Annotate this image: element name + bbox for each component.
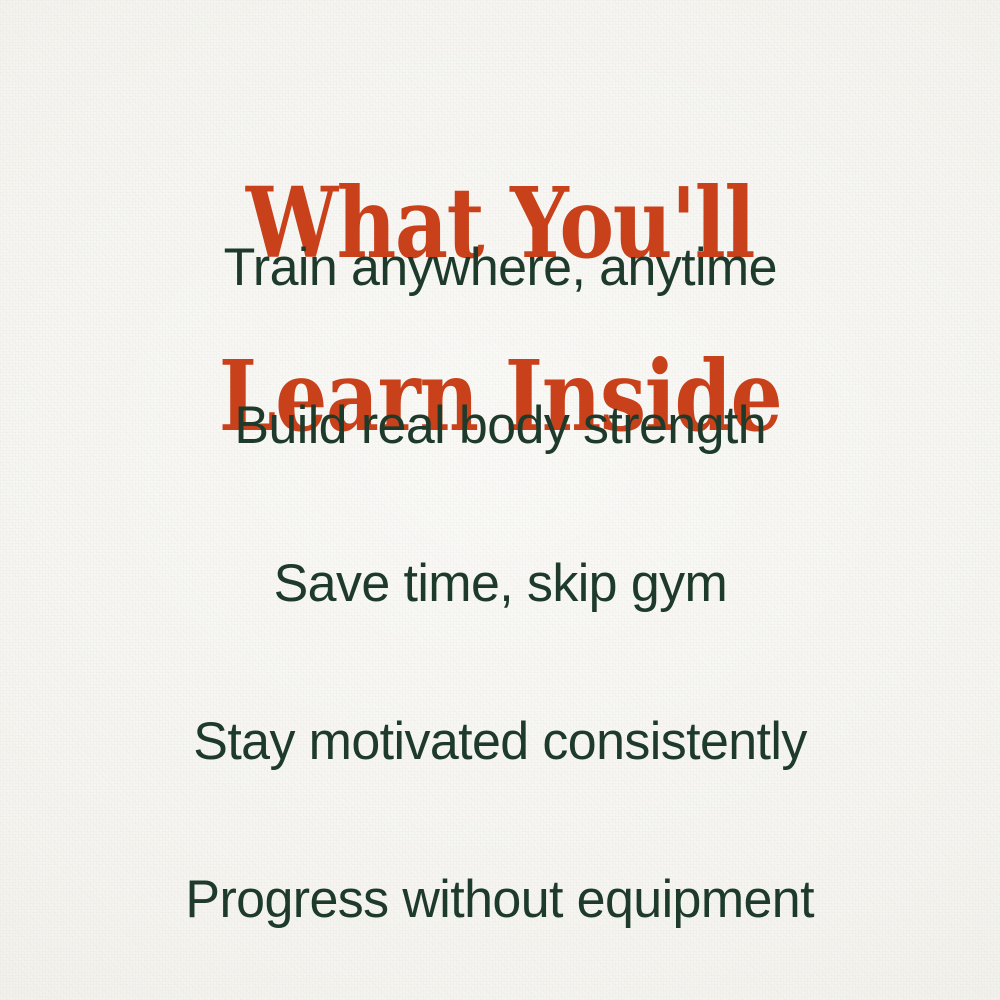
benefit-item-5: Progress without equipment	[0, 864, 1000, 1000]
poster-content: What You'll Learn Inside Train anywhere,…	[0, 0, 1000, 1000]
benefit-label-1: Train anywhere, anytime	[223, 232, 776, 304]
benefit-item-1: Train anywhere, anytime	[0, 232, 1000, 390]
benefit-label-5: Progress without equipment	[186, 864, 815, 936]
benefit-label-4: Stay motivated consistently	[193, 706, 806, 778]
benefit-label-3: Save time, skip gym	[273, 548, 727, 620]
poster-canvas: What You'll Learn Inside Train anywhere,…	[0, 0, 1000, 1000]
benefit-item-2: Build real body strength	[0, 390, 1000, 548]
benefit-item-3: Save time, skip gym	[0, 548, 1000, 706]
benefits-list: Train anywhere, anytime Build real body …	[0, 232, 1000, 1000]
benefit-label-2: Build real body strength	[234, 390, 766, 462]
benefit-item-4: Stay motivated consistently	[0, 706, 1000, 864]
